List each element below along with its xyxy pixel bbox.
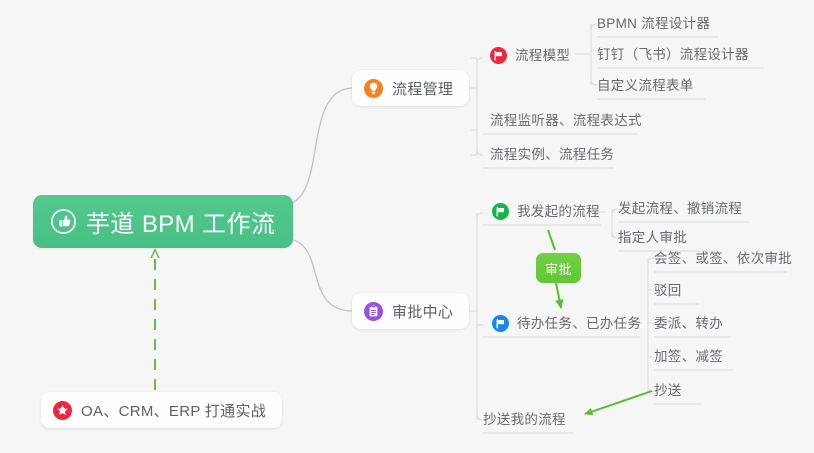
cc-link-arrow <box>585 391 652 414</box>
root-node[interactable]: 芋道 BPM 工作流 <box>33 195 293 248</box>
leaf-reject-label: 驳回 <box>654 279 682 299</box>
clipboard-icon <box>364 302 383 321</box>
leaf-instance-task-label: 流程实例、流程任务 <box>490 143 614 163</box>
star-icon <box>53 401 72 420</box>
leaf-bpmn-designer[interactable]: BPMN 流程设计器 <box>597 8 719 35</box>
leaf-delegate-transfer[interactable]: 委派、转办 <box>654 308 732 335</box>
flag-icon <box>492 315 509 332</box>
flow-arrow-approval <box>548 230 555 250</box>
branch-approval-center[interactable]: 审批中心 <box>352 293 469 329</box>
flow-badge-approval-label: 审批 <box>545 259 572 278</box>
leaf-dingtalk-designer[interactable]: 钉钉（飞书）流程设计器 <box>597 39 758 66</box>
wire-stubs-approval-center <box>471 311 483 325</box>
leaf-bpmn-designer-label: BPMN 流程设计器 <box>597 12 710 32</box>
integration-callout[interactable]: OA、CRM、ERP 打通实战 <box>41 392 282 428</box>
root-node-label: 芋道 BPM 工作流 <box>86 204 275 239</box>
flow-badge-approval[interactable]: 审批 <box>536 253 581 283</box>
leaf-add-remove-sign[interactable]: 加签、减签 <box>654 341 732 368</box>
branch-approval-center-label: 审批中心 <box>392 301 453 322</box>
leaf-instance-task[interactable]: 流程实例、流程任务 <box>490 139 623 166</box>
leaf-start-cancel-process[interactable]: 发起流程、撤销流程 <box>618 193 751 220</box>
leaf-dingtalk-designer-label: 钉钉（飞书）流程设计器 <box>597 43 749 63</box>
leaf-cc-label: 抄送 <box>654 379 682 399</box>
leaf-listener-expression-label: 流程监听器、流程表达式 <box>490 109 642 129</box>
node-todo-done-task-label: 待办任务、已办任务 <box>517 312 641 332</box>
wire-corner-ac-top <box>477 213 483 219</box>
wire-stubs-process-management <box>471 58 477 155</box>
leaf-delegate-transfer-label: 委派、转办 <box>654 312 723 332</box>
leaf-custom-form[interactable]: 自定义流程表单 <box>597 70 703 97</box>
node-process-model[interactable]: 流程模型 <box>490 40 579 67</box>
flag-icon <box>492 203 509 220</box>
leaf-cc[interactable]: 抄送 <box>654 375 691 402</box>
node-process-model-label: 流程模型 <box>515 44 570 64</box>
leaf-custom-form-label: 自定义流程表单 <box>597 74 694 94</box>
leaf-multi-approve[interactable]: 会签、或签、依次审批 <box>654 243 801 270</box>
leaf-cc-to-me-process[interactable]: 抄送我的流程 <box>483 404 575 431</box>
thumbs-up-icon <box>51 209 76 234</box>
mindmap-canvas: 芋道 BPM 工作流 流程管理 审批中心 <box>0 0 814 453</box>
leaf-listener-expression[interactable]: 流程监听器、流程表达式 <box>490 105 651 132</box>
leaf-start-cancel-process-label: 发起流程、撤销流程 <box>618 197 742 217</box>
node-my-started-process-label: 我发起的流程 <box>517 200 600 220</box>
leaf-cc-to-me-process-label: 抄送我的流程 <box>483 408 566 428</box>
branch-process-management-label: 流程管理 <box>392 78 453 99</box>
node-my-started-process[interactable]: 我发起的流程 <box>492 196 609 223</box>
leaf-reject[interactable]: 驳回 <box>654 275 691 302</box>
leaf-add-remove-sign-label: 加签、减签 <box>654 345 723 365</box>
wire-root-to-approval-center <box>282 238 352 311</box>
lightbulb-icon <box>364 79 383 98</box>
integration-callout-label: OA、CRM、ERP 打通实战 <box>81 400 266 421</box>
branch-process-management[interactable]: 流程管理 <box>352 70 469 106</box>
wire-corner-pm-bottom <box>477 149 483 155</box>
wire-corner-pm-top <box>477 58 483 64</box>
leaf-multi-approve-label: 会签、或签、依次审批 <box>654 247 792 267</box>
flag-icon <box>490 47 507 64</box>
node-todo-done-task[interactable]: 待办任务、已办任务 <box>492 308 650 335</box>
flow-arrow-approval-lower <box>556 283 561 308</box>
wire-root-to-process-management <box>282 88 352 205</box>
